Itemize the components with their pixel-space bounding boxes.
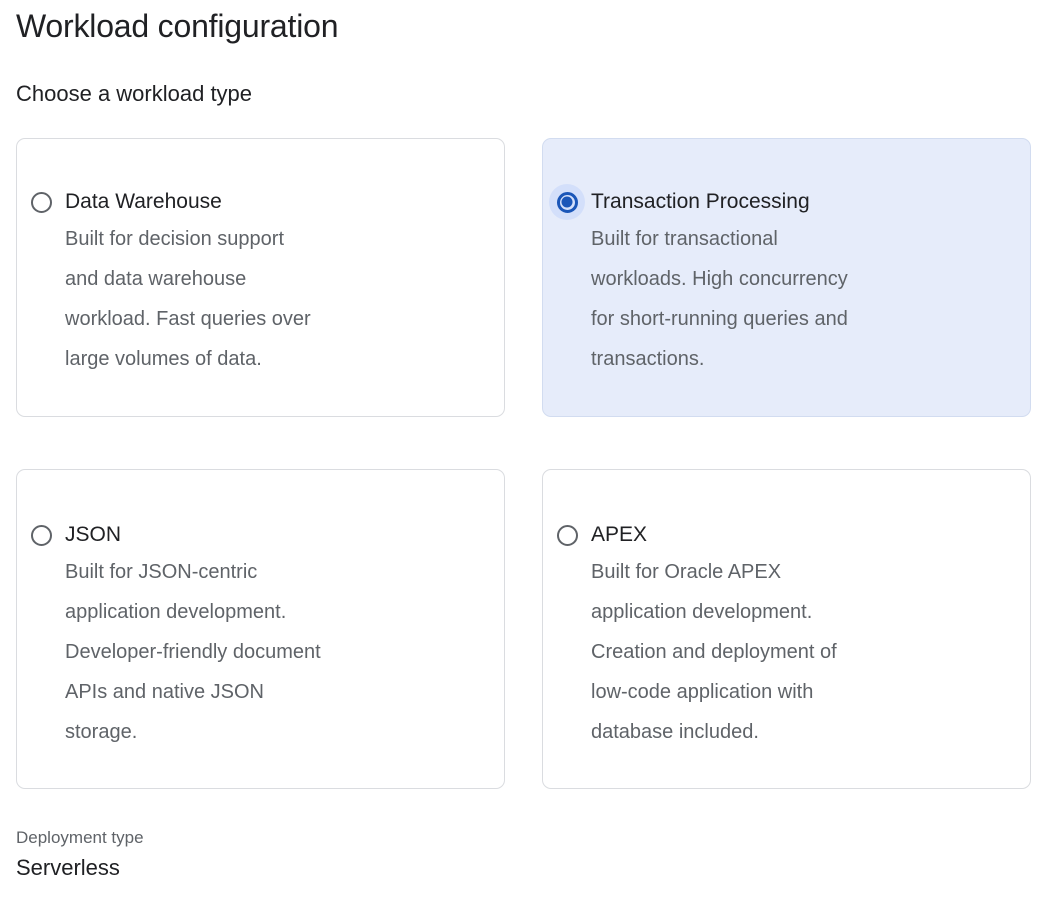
card-title: APEX xyxy=(591,518,837,552)
workload-card-json[interactable]: JSON Built for JSON-centric application … xyxy=(16,469,505,789)
radio-circle-icon xyxy=(557,525,578,546)
card-inner: JSON Built for JSON-centric application … xyxy=(17,518,321,752)
description-line: workloads. High concurrency xyxy=(591,259,848,299)
card-row-2: JSON Built for JSON-centric application … xyxy=(16,469,1034,789)
card-text: APEX Built for Oracle APEX application d… xyxy=(591,518,837,752)
radio-circle-icon xyxy=(31,192,52,213)
description-line: Built for JSON-centric xyxy=(65,552,321,592)
section-label-workload-type: Choose a workload type xyxy=(16,80,252,108)
radio-button-apex[interactable] xyxy=(543,518,591,552)
card-inner: Data Warehouse Built for decision suppor… xyxy=(17,185,311,379)
description-line: Built for decision support xyxy=(65,219,311,259)
description-line: workload. Fast queries over xyxy=(65,299,311,339)
description-line: storage. xyxy=(65,712,321,752)
workload-card-data-warehouse[interactable]: Data Warehouse Built for decision suppor… xyxy=(16,138,505,417)
workload-card-apex[interactable]: APEX Built for Oracle APEX application d… xyxy=(542,469,1031,789)
description-line: database included. xyxy=(591,712,837,752)
card-text: Data Warehouse Built for decision suppor… xyxy=(65,185,311,379)
workload-card-transaction-processing[interactable]: Transaction Processing Built for transac… xyxy=(542,138,1031,417)
description-line: Built for Oracle APEX xyxy=(591,552,837,592)
description-line: APIs and native JSON xyxy=(65,672,321,712)
radio-circle-icon xyxy=(31,525,52,546)
description-line: low-code application with xyxy=(591,672,837,712)
card-title: JSON xyxy=(65,518,321,552)
card-title: Transaction Processing xyxy=(591,185,848,219)
card-title: Data Warehouse xyxy=(65,185,311,219)
description-line: for short-running queries and xyxy=(591,299,848,339)
description-line: transactions. xyxy=(591,339,848,379)
workload-configuration-page: Workload configuration Choose a workload… xyxy=(0,0,1056,920)
radio-button-transaction-processing[interactable] xyxy=(543,185,591,219)
description-line: Creation and deployment of xyxy=(591,632,837,672)
card-description: Built for transactional workloads. High … xyxy=(591,219,848,379)
deployment-type-label: Deployment type xyxy=(16,826,144,850)
card-row-1: Data Warehouse Built for decision suppor… xyxy=(16,138,1034,417)
description-line: application development. xyxy=(591,592,837,632)
card-description: Built for JSON-centric application devel… xyxy=(65,552,321,752)
card-text: JSON Built for JSON-centric application … xyxy=(65,518,321,752)
card-description: Built for decision support and data ware… xyxy=(65,219,311,379)
radio-button-json[interactable] xyxy=(17,518,65,552)
radio-dot-icon xyxy=(562,197,573,208)
page-title: Workload configuration xyxy=(16,6,338,46)
description-line: large volumes of data. xyxy=(65,339,311,379)
deployment-type-section: Deployment type Serverless xyxy=(16,826,144,883)
description-line: Developer-friendly document xyxy=(65,632,321,672)
description-line: and data warehouse xyxy=(65,259,311,299)
radio-button-data-warehouse[interactable] xyxy=(17,185,65,219)
description-line: application development. xyxy=(65,592,321,632)
card-description: Built for Oracle APEX application develo… xyxy=(591,552,837,752)
card-inner: Transaction Processing Built for transac… xyxy=(543,185,848,379)
radio-circle-icon xyxy=(557,192,578,213)
description-line: Built for transactional xyxy=(591,219,848,259)
card-inner: APEX Built for Oracle APEX application d… xyxy=(543,518,837,752)
workload-type-card-grid: Data Warehouse Built for decision suppor… xyxy=(16,138,1034,789)
card-text: Transaction Processing Built for transac… xyxy=(591,185,848,379)
deployment-type-value: Serverless xyxy=(16,853,144,883)
